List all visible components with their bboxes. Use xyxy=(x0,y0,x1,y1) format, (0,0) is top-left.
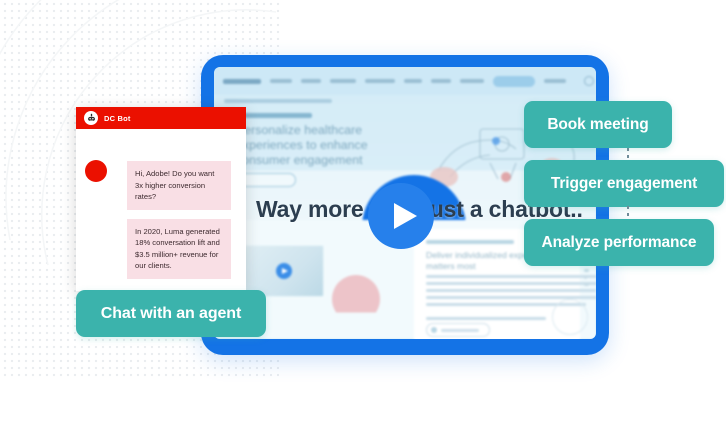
mini-play-icon[interactable] xyxy=(276,263,292,279)
nav-item-7[interactable] xyxy=(460,79,484,84)
nav-item-1[interactable] xyxy=(270,79,292,84)
hero-headline: Personalize healthcare experiences to en… xyxy=(236,123,420,168)
nav-item-3[interactable] xyxy=(330,79,356,84)
robot-icon xyxy=(84,111,98,125)
card-body-line-2 xyxy=(426,282,596,285)
card-body-line-3 xyxy=(426,289,596,292)
site-navbar[interactable] xyxy=(214,67,596,95)
chat-message-list: Hi, Adobe! Do you want 3x higher convers… xyxy=(76,129,246,291)
breadcrumb xyxy=(224,99,332,103)
nav-item-6[interactable] xyxy=(431,79,451,84)
hero-eyebrow xyxy=(238,113,312,118)
connector-dashes-bottom xyxy=(627,206,629,220)
card-body-line-1 xyxy=(426,275,596,278)
pill-book-meeting[interactable]: Book meeting xyxy=(524,101,672,148)
chat-message-bubble: In 2020, Luma generated 18% conversation… xyxy=(127,219,231,279)
card-eyebrow xyxy=(426,240,514,244)
hero-cta-button[interactable] xyxy=(238,173,296,187)
pill-analyze-performance[interactable]: Analyze performance xyxy=(524,219,714,266)
site-logo xyxy=(223,79,261,84)
card-body-line-6 xyxy=(426,317,546,320)
robot-glyph xyxy=(86,113,97,124)
chat-message-bubble: Hi, Adobe! Do you want 3x higher convers… xyxy=(127,161,231,210)
pill-trigger-engagement[interactable]: Trigger engagement xyxy=(524,160,724,207)
chat-widget-header: DC Bot xyxy=(76,107,246,129)
gear-icon[interactable] xyxy=(584,76,594,86)
chat-widget-title: DC Bot xyxy=(104,114,131,123)
nav-cta-button[interactable] xyxy=(493,76,535,87)
card-button-label xyxy=(441,329,479,332)
hero-illustration: Personalize healthcare experiences to en… xyxy=(0,0,726,426)
nav-item-8[interactable] xyxy=(544,79,566,84)
pill-chat-with-agent[interactable]: Chat with an agent xyxy=(76,290,266,337)
nav-item-4[interactable] xyxy=(365,79,395,84)
connector-dashes-top xyxy=(627,148,629,162)
avatar xyxy=(85,160,107,182)
play-icon[interactable] xyxy=(368,183,434,249)
card-play-button[interactable] xyxy=(426,323,490,337)
nav-item-2[interactable] xyxy=(301,79,321,84)
decorative-circle-outline xyxy=(552,299,588,335)
chat-widget[interactable]: DC Bot Hi, Adobe! Do you want 3x higher … xyxy=(76,107,246,291)
nav-item-5[interactable] xyxy=(404,79,422,84)
